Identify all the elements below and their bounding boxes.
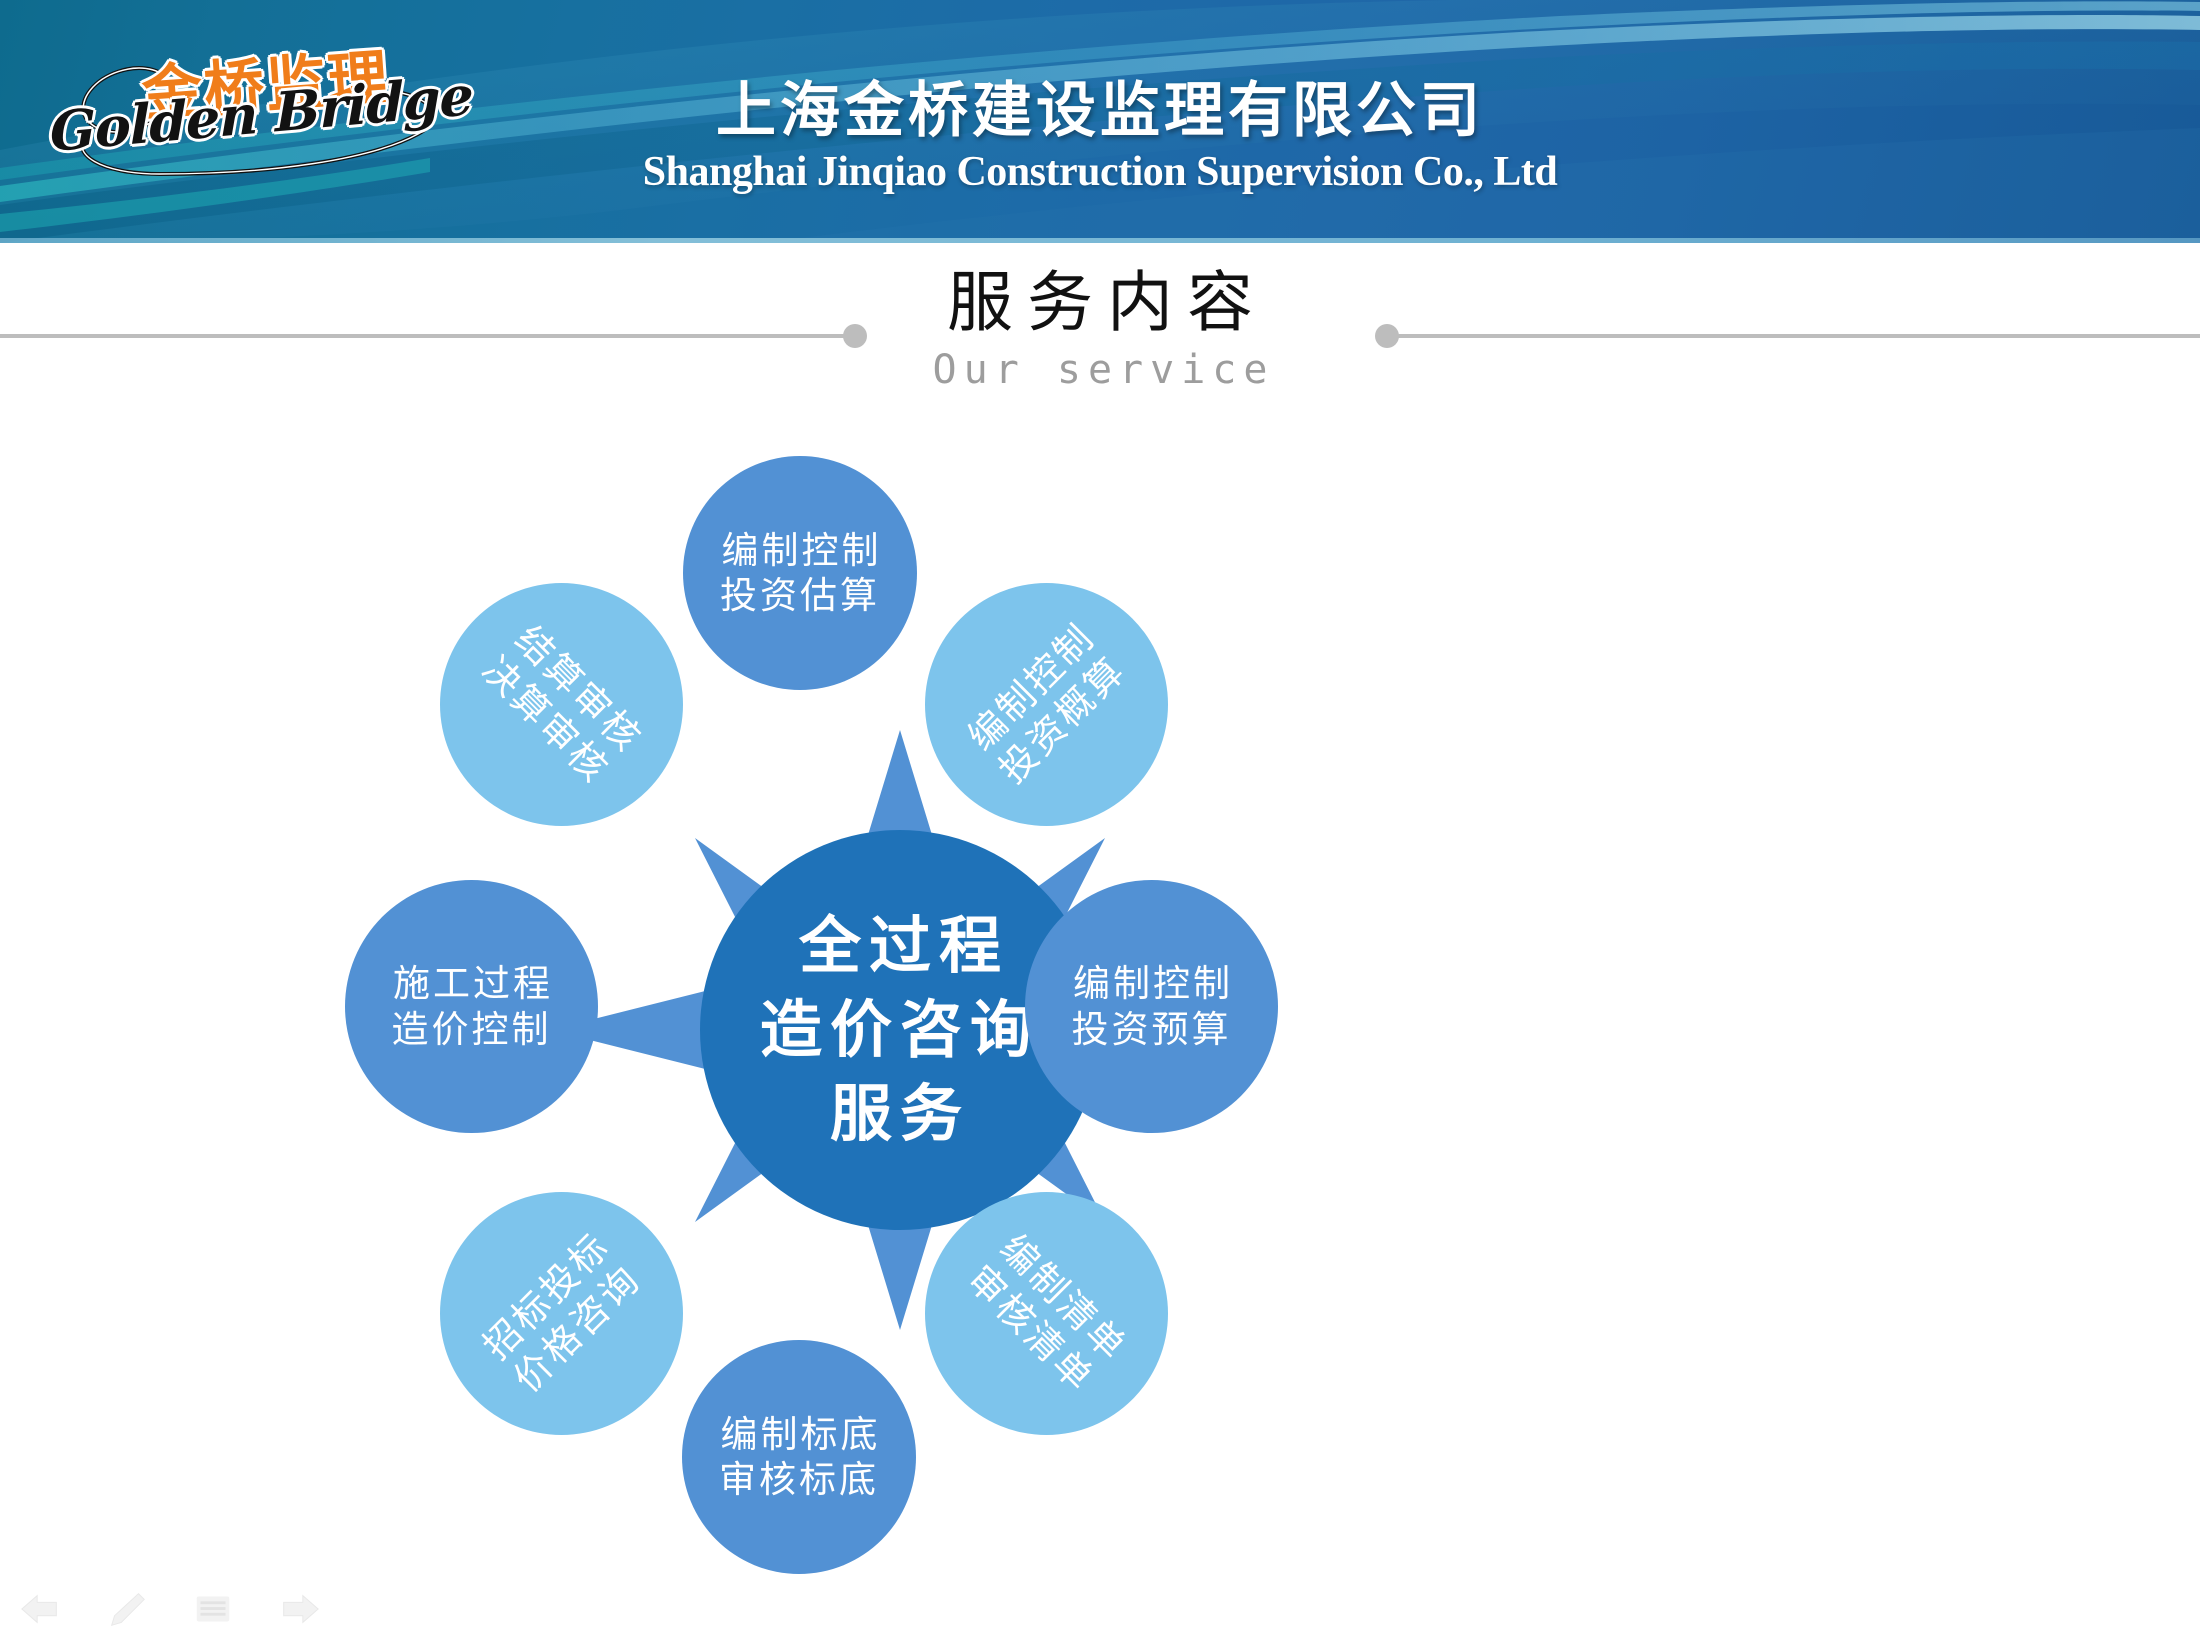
company-name-chinese: 上海金桥建设监理有限公司 <box>0 62 2200 149</box>
previous-slide-icon[interactable] <box>18 1586 64 1632</box>
node-bottom-left[interactable]: 招标投标 价格咨询 <box>440 1192 683 1435</box>
node-bottom-label: 编制标底 审核标底 <box>718 1412 881 1502</box>
menu-icon[interactable] <box>190 1586 236 1632</box>
node-top-right[interactable]: 编制控制 投资概算 <box>925 583 1168 826</box>
node-left[interactable]: 施工过程 造价控制 <box>345 880 598 1133</box>
node-right[interactable]: 编制控制 投资预算 <box>1025 880 1278 1133</box>
slide-title-zone: 服务内容 Our service <box>0 243 2200 423</box>
next-slide-icon[interactable] <box>276 1586 322 1632</box>
node-bottom-right[interactable]: 编制清单 审核清单 <box>925 1192 1168 1435</box>
node-left-label: 施工过程 造价控制 <box>390 961 553 1051</box>
node-top-right-label: 编制控制 投资概算 <box>957 615 1136 794</box>
node-bottom[interactable]: 编制标底 审核标底 <box>682 1340 916 1574</box>
node-top-left-label: 结算审核 决算审核 <box>472 615 651 794</box>
service-wheel-diagram: 全过程 造价咨询 服务 编制控制 投资估算 编制控制 投资概算 编制控制 投资预… <box>380 440 1820 1560</box>
node-top-label: 编制控制 投资估算 <box>719 528 882 618</box>
center-node-label: 全过程 造价咨询 服务 <box>760 904 1040 1157</box>
company-name-english: Shanghai Jinqiao Construction Supervisio… <box>0 148 2200 196</box>
node-bottom-left-label: 招标投标 价格咨询 <box>472 1224 651 1403</box>
node-right-label: 编制控制 投资预算 <box>1070 961 1233 1051</box>
node-top[interactable]: 编制控制 投资估算 <box>683 456 917 690</box>
header-banner: 金桥监理 Golden Bridge 上海金桥建设监理有限公司 Shanghai… <box>0 0 2200 243</box>
node-bottom-right-label: 编制清单 审核清单 <box>957 1224 1136 1403</box>
pen-annotate-icon[interactable] <box>104 1586 150 1632</box>
slideshow-navigation-bar <box>18 1586 322 1632</box>
page-title: 服务内容 <box>0 249 2200 345</box>
node-top-left[interactable]: 结算审核 决算审核 <box>440 583 683 826</box>
page-subtitle: Our service <box>0 347 2200 393</box>
